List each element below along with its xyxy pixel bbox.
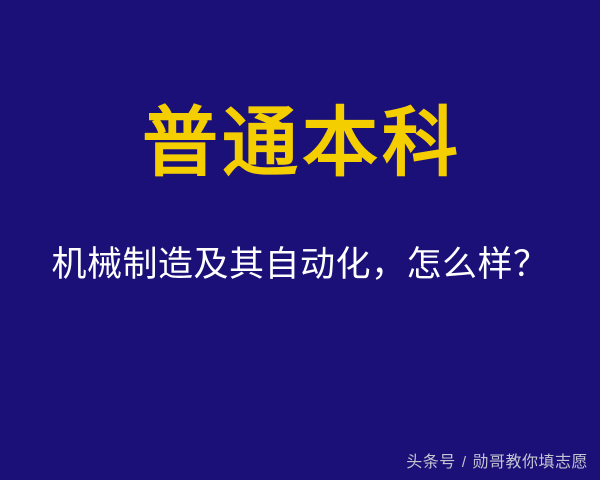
watermark: 头条号 / 勋哥教你填志愿 <box>406 454 588 472</box>
watermark-account-name: 勋哥教你填志愿 <box>472 454 588 472</box>
page-title: 普通本科 <box>138 106 462 182</box>
watermark-separator: / <box>462 455 467 472</box>
page-subtitle: 机械制造及其自动化，怎么样？ <box>51 247 548 282</box>
subtitle-container: 机械制造及其自动化，怎么样？ <box>0 236 600 292</box>
watermark-source-label: 头条号 <box>406 454 456 472</box>
title-container: 普通本科 <box>0 92 600 196</box>
slide-canvas: 普通本科 机械制造及其自动化，怎么样？ 头条号 / 勋哥教你填志愿 <box>0 0 600 480</box>
